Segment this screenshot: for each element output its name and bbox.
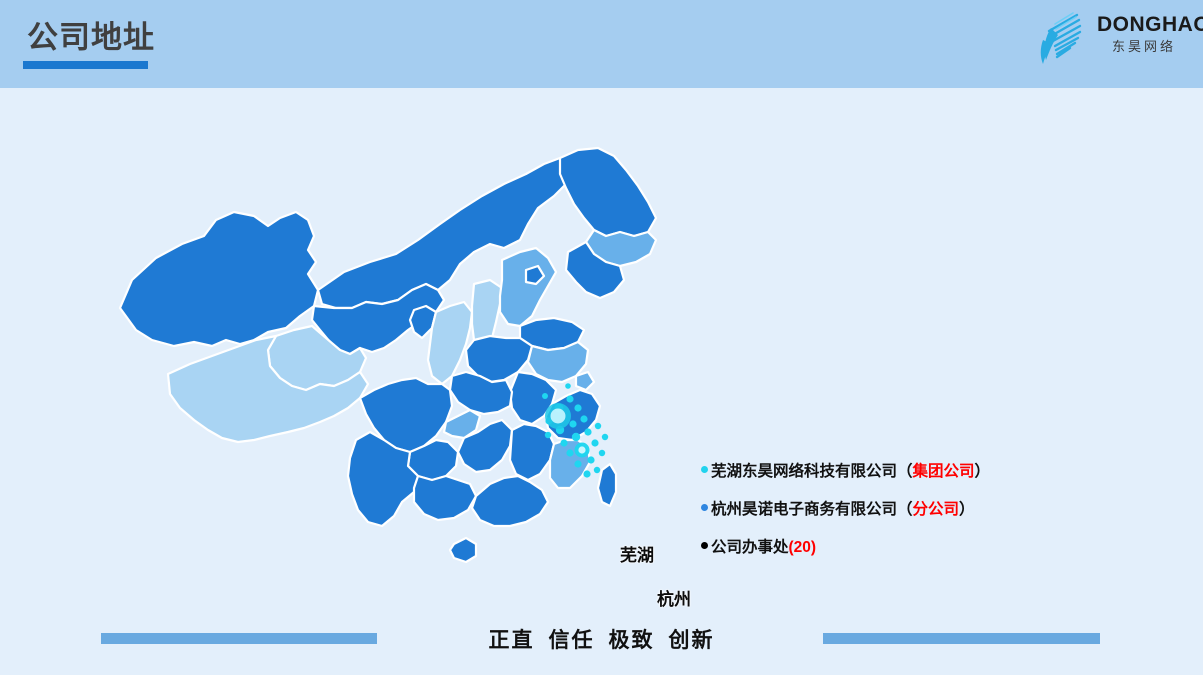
feather-wing-icon xyxy=(1035,7,1097,69)
map-label-hangzhou: 杭州 xyxy=(657,585,691,610)
legend-label: 杭州昊诺电子商务有限公司 xyxy=(711,501,897,518)
title-underline xyxy=(23,61,148,69)
province-xinjiang xyxy=(120,212,318,346)
legend-tag: 集团公司 xyxy=(913,463,975,480)
logo-text-block: DONGHAO 东昊网络 xyxy=(1097,13,1191,56)
legend-paren-close: ） xyxy=(959,501,975,518)
logo-subtitle: 东昊网络 xyxy=(1097,38,1191,56)
legend-item-offices: 公司办事处(20) xyxy=(701,538,1101,576)
slogan-word-4: 创新 xyxy=(669,629,715,652)
province-guangxi xyxy=(414,476,476,520)
legend-paren-open: （ xyxy=(897,501,913,518)
province-guangdong xyxy=(472,476,548,526)
province-hainan xyxy=(450,538,476,562)
china-map-svg xyxy=(108,140,688,610)
legend-tag: 分公司 xyxy=(913,501,960,518)
company-logo: DONGHAO 东昊网络 xyxy=(1035,7,1191,69)
slogan-word-1: 正直 xyxy=(489,629,535,652)
province-heilongjiang xyxy=(560,148,656,236)
map-label-wuhu: 芜湖 xyxy=(620,541,654,566)
slide-header-band xyxy=(0,0,1203,88)
footer-slogan: 正直信任极致创新 xyxy=(0,624,1203,654)
legend-paren-close: ） xyxy=(975,463,991,480)
legend-item-group-company: 芜湖东昊网络科技有限公司（集团公司） xyxy=(701,462,1101,500)
headquarters-marker xyxy=(545,403,571,429)
legend: 芜湖东昊网络科技有限公司（集团公司） 杭州昊诺电子商务有限公司（分公司） 公司办… xyxy=(701,462,1101,576)
legend-tag: (20) xyxy=(789,539,817,556)
legend-item-branch-company: 杭州昊诺电子商务有限公司（分公司） xyxy=(701,500,1101,538)
logo-name: DONGHAO xyxy=(1097,13,1191,37)
legend-bullet-icon xyxy=(701,466,708,473)
slogan-word-3: 极致 xyxy=(609,629,655,652)
china-map: 芜湖 杭州 xyxy=(108,140,688,610)
legend-paren-open: （ xyxy=(897,463,913,480)
page-title: 公司地址 xyxy=(27,19,155,57)
legend-bullet-icon xyxy=(701,542,708,549)
province-hebei xyxy=(500,248,556,326)
province-taiwan xyxy=(598,464,616,506)
branch-marker xyxy=(575,443,590,458)
legend-label: 芜湖东昊网络科技有限公司 xyxy=(711,463,897,480)
legend-bullet-icon xyxy=(701,504,708,511)
city-shanghai xyxy=(576,372,594,390)
slide: 公司地址 xyxy=(0,0,1203,675)
legend-label: 公司办事处 xyxy=(711,539,789,556)
slogan-word-2: 信任 xyxy=(549,629,595,652)
